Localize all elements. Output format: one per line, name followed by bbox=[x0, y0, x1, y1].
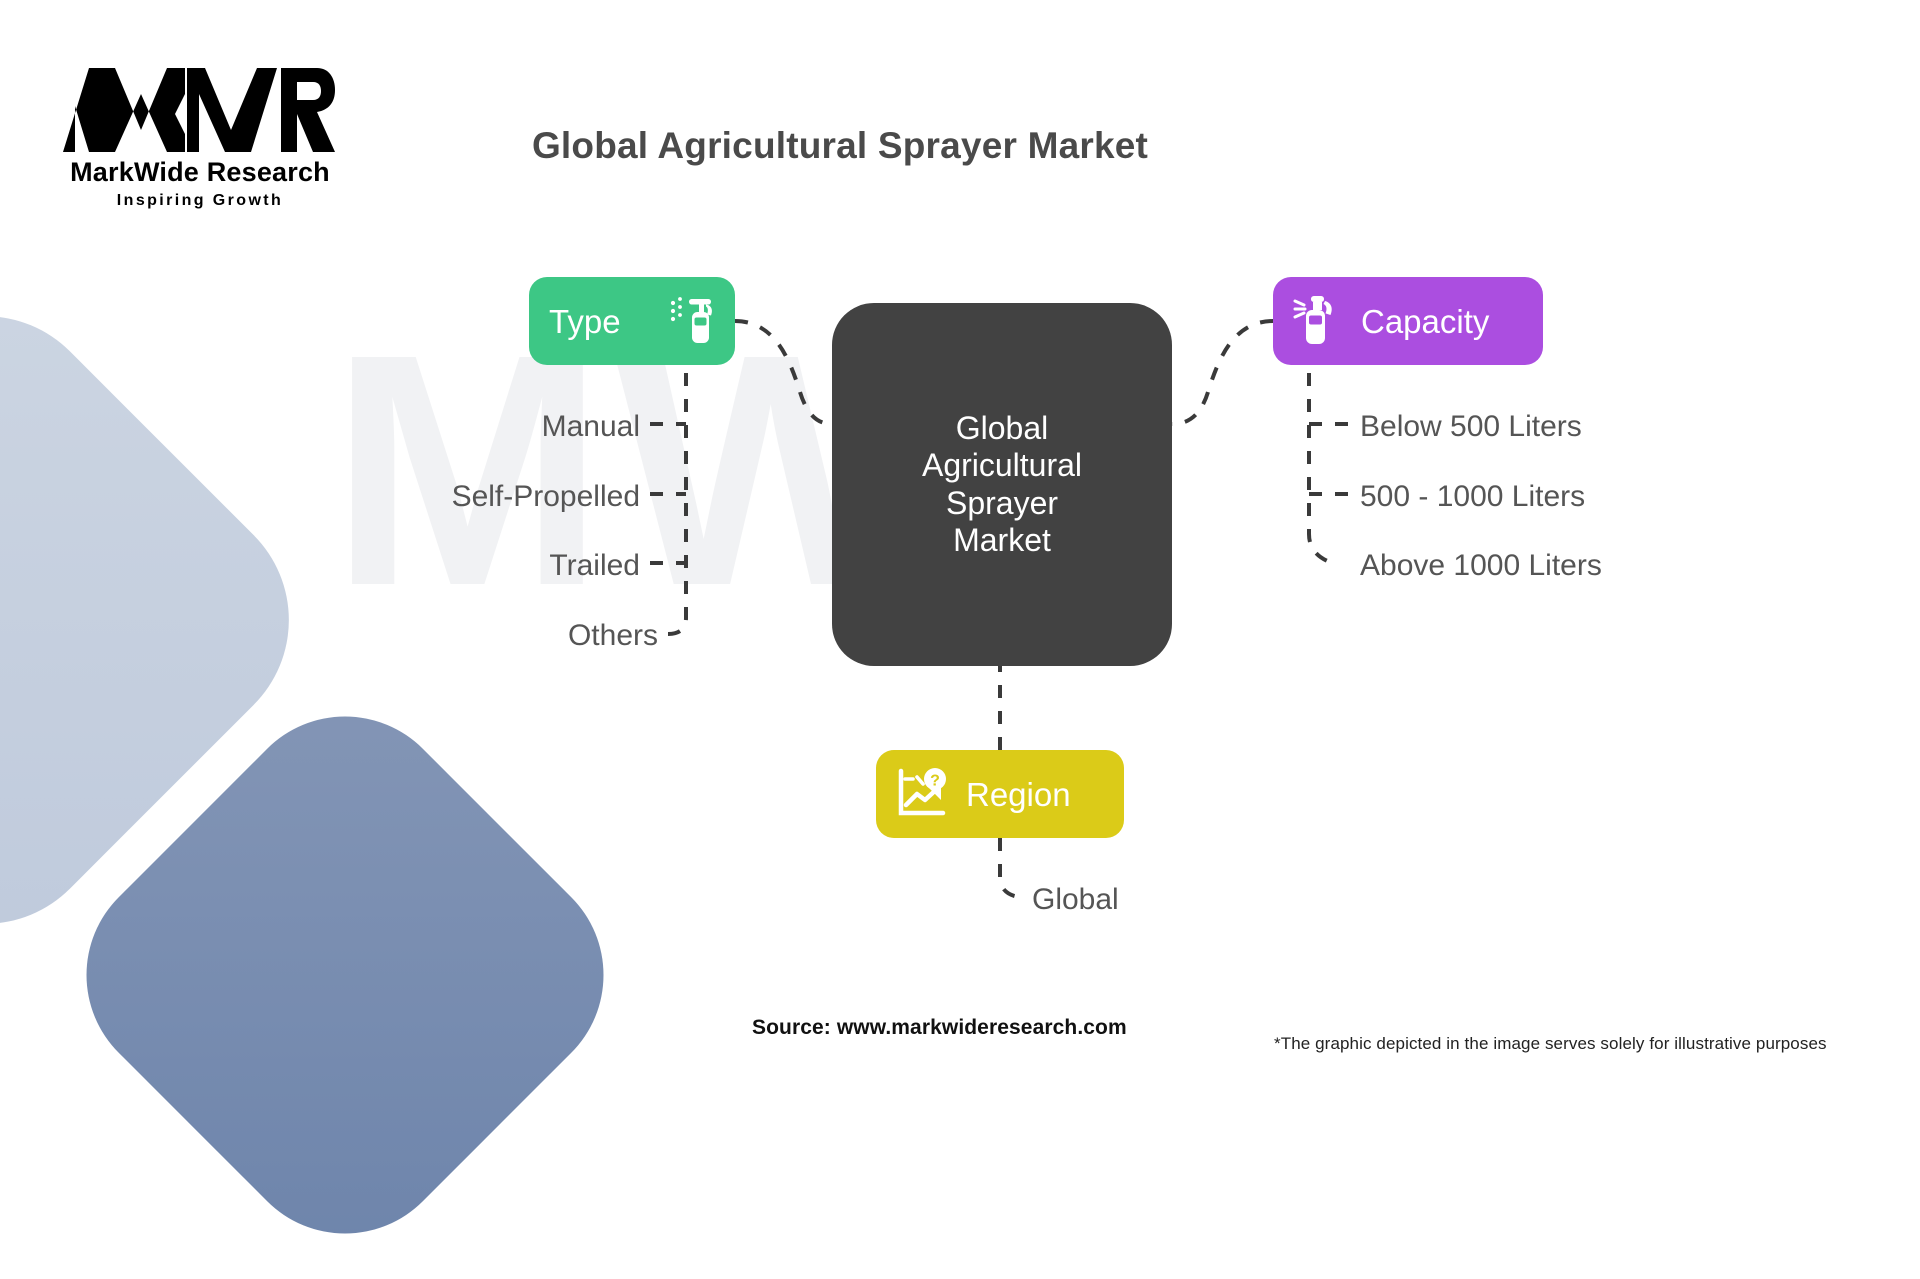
connector-type-hub bbox=[735, 321, 832, 424]
branch-badge-capacity-label: Capacity bbox=[1361, 305, 1489, 338]
leaf-capacity-below-500: Below 500 Liters bbox=[1360, 412, 1582, 442]
source-label: Source: www.markwideresearch.com bbox=[752, 1016, 1127, 1040]
chart-question-icon: ? bbox=[896, 767, 952, 821]
leaf-capacity-above-1000: Above 1000 Liters bbox=[1360, 551, 1602, 581]
center-hub-line: Sprayer bbox=[922, 485, 1082, 522]
branch-badge-region[interactable]: ? Region bbox=[876, 750, 1124, 838]
svg-text:?: ? bbox=[930, 773, 940, 790]
leaf-type-others: Others bbox=[140, 621, 658, 651]
connector-capacity-hub bbox=[1172, 321, 1273, 424]
center-hub-line: Global bbox=[922, 410, 1082, 447]
leaf-capacity-500-1000: 500 - 1000 Liters bbox=[1360, 482, 1585, 512]
leaf-type-manual: Manual bbox=[140, 412, 640, 442]
branch-badge-capacity[interactable]: Capacity bbox=[1273, 277, 1543, 365]
connector-region-leaf-0 bbox=[1000, 838, 1022, 897]
center-hub: Global Agricultural Sprayer Market bbox=[832, 303, 1172, 666]
center-hub-line: Market bbox=[922, 522, 1082, 559]
disclaimer-label: *The graphic depicted in the image serve… bbox=[1274, 1034, 1827, 1054]
leaf-type-trailed: Trailed bbox=[140, 551, 640, 581]
branch-badge-region-label: Region bbox=[966, 778, 1071, 811]
spray-bottle-icon bbox=[669, 294, 715, 348]
infographic-canvas: MWR MarkWide Research Inspiring Growth G… bbox=[0, 0, 1920, 1080]
leaf-region-global: Global bbox=[1032, 885, 1119, 915]
branch-badge-type[interactable]: Type bbox=[529, 277, 735, 365]
center-hub-text: Global Agricultural Sprayer Market bbox=[922, 410, 1082, 560]
branch-badge-type-label: Type bbox=[549, 305, 621, 338]
connector-type-spine bbox=[668, 321, 686, 634]
center-hub-line: Agricultural bbox=[922, 447, 1082, 484]
leaf-type-self-propelled: Self-Propelled bbox=[140, 482, 640, 512]
spray-bottle-icon bbox=[1293, 293, 1345, 349]
